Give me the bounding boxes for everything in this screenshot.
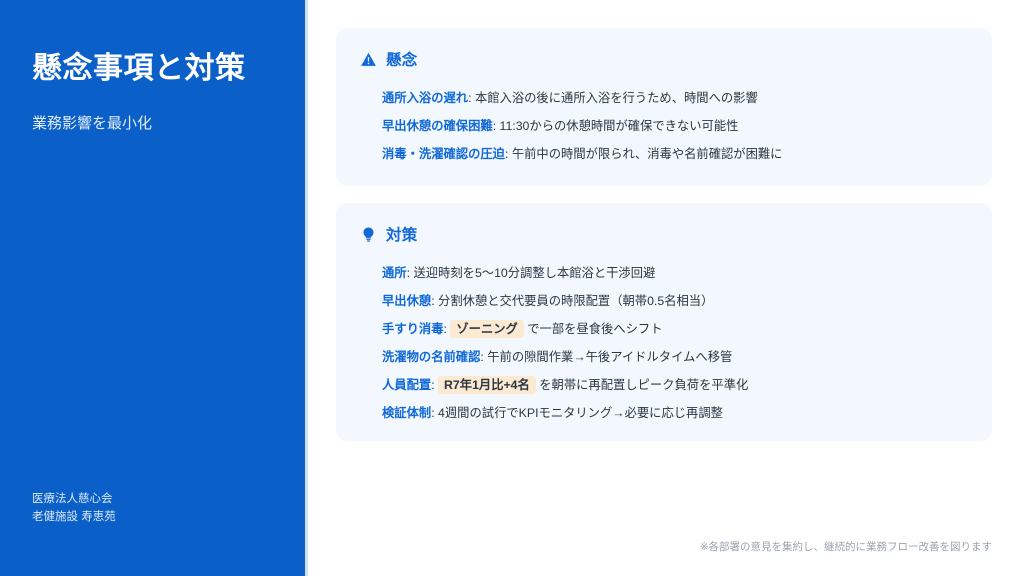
item-label: 消毒・洗濯確認の圧迫: [382, 147, 505, 161]
card-risks-header: 懸念: [360, 48, 968, 70]
risks-item-list: 通所入浴の遅れ: 本館入浴の後に通所入浴を行うため、時間への影響 早出休憩の確保…: [360, 84, 968, 168]
item-label: 早出休憩: [382, 294, 431, 308]
card-measures: 対策 通所: 送迎時刻を5〜10分調整し本館浴と干渉回避 早出休憩: 分割休憩と…: [336, 203, 992, 441]
item-separator: :: [505, 147, 512, 161]
page-subtitle: 業務影響を最小化: [32, 113, 282, 134]
list-item: 検証体制: 4週間の試行でKPIモニタリング→必要に応じ再調整: [382, 399, 968, 427]
measures-item-list: 通所: 送迎時刻を5〜10分調整し本館浴と干渉回避 早出休憩: 分割休憩と交代要…: [360, 259, 968, 427]
item-label: 人員配置: [382, 378, 431, 392]
item-text: を朝帯に再配置しピーク負荷を平準化: [536, 378, 748, 392]
item-label: 検証体制: [382, 406, 431, 420]
list-item: 通所: 送迎時刻を5〜10分調整し本館浴と干渉回避: [382, 259, 968, 287]
item-separator: :: [493, 119, 500, 133]
organization-name: 医療法人慈心会: [32, 490, 116, 508]
item-label: 洗濯物の名前確認: [382, 350, 480, 364]
item-label: 通所: [382, 266, 407, 280]
lightbulb-icon: [360, 226, 377, 243]
list-item: 早出休憩: 分割休憩と交代要員の時限配置（朝帯0.5名相当）: [382, 287, 968, 315]
list-item: 通所入浴の遅れ: 本館入浴の後に通所入浴を行うため、時間への影響: [382, 84, 968, 112]
list-item: 洗濯物の名前確認: 午前の隙間作業→午後アイドルタイムへ移管: [382, 343, 968, 371]
item-separator: :: [468, 91, 475, 105]
content-area: 懸念 通所入浴の遅れ: 本館入浴の後に通所入浴を行うため、時間への影響 早出休憩…: [308, 0, 1024, 576]
organization-block: 医療法人慈心会 老健施設 寿恵苑: [32, 490, 116, 527]
item-label: 通所入浴の遅れ: [382, 91, 468, 105]
list-item: 人員配置: R7年1月比+4名 を朝帯に再配置しピーク負荷を平準化: [382, 371, 968, 399]
item-label: 手すり消毒: [382, 322, 444, 336]
item-highlight-badge: R7年1月比+4名: [438, 376, 536, 394]
item-text: 分割休憩と交代要員の時限配置（朝帯0.5名相当）: [438, 294, 713, 308]
card-risks-title: 懸念: [386, 48, 418, 70]
item-text: 本館入浴の後に通所入浴を行うため、時間への影響: [475, 91, 758, 105]
item-text: 午前の隙間作業→午後アイドルタイムへ移管: [487, 350, 732, 364]
footnote: ※各部署の意見を集約し、継続的に業務フロー改善を図ります: [700, 539, 992, 554]
card-measures-header: 対策: [360, 223, 968, 245]
card-risks: 懸念 通所入浴の遅れ: 本館入浴の後に通所入浴を行うため、時間への影響 早出休憩…: [336, 28, 992, 186]
item-text: で一部を昼食後へシフト: [524, 322, 663, 336]
item-highlight-badge: ゾーニング: [450, 320, 524, 338]
item-text: 4週間の試行でKPIモニタリング→必要に応じ再調整: [438, 406, 723, 420]
list-item: 早出休憩の確保困難: 11:30からの休憩時間が確保できない可能性: [382, 112, 968, 140]
item-text: 送迎時刻を5〜10分調整し本館浴と干渉回避: [413, 266, 655, 280]
warning-triangle-icon: [360, 51, 377, 68]
list-item: 消毒・洗濯確認の圧迫: 午前中の時間が限られ、消毒や名前確認が困難に: [382, 140, 968, 168]
item-label: 早出休憩の確保困難: [382, 119, 493, 133]
item-text: 午前中の時間が限られ、消毒や名前確認が困難に: [512, 147, 783, 161]
page-title: 懸念事項と対策: [32, 50, 282, 88]
item-text: 11:30からの休憩時間が確保できない可能性: [500, 119, 739, 133]
facility-name: 老健施設 寿恵苑: [32, 508, 116, 526]
list-item: 手すり消毒: ゾーニング で一部を昼食後へシフト: [382, 315, 968, 343]
card-measures-title: 対策: [386, 223, 418, 245]
